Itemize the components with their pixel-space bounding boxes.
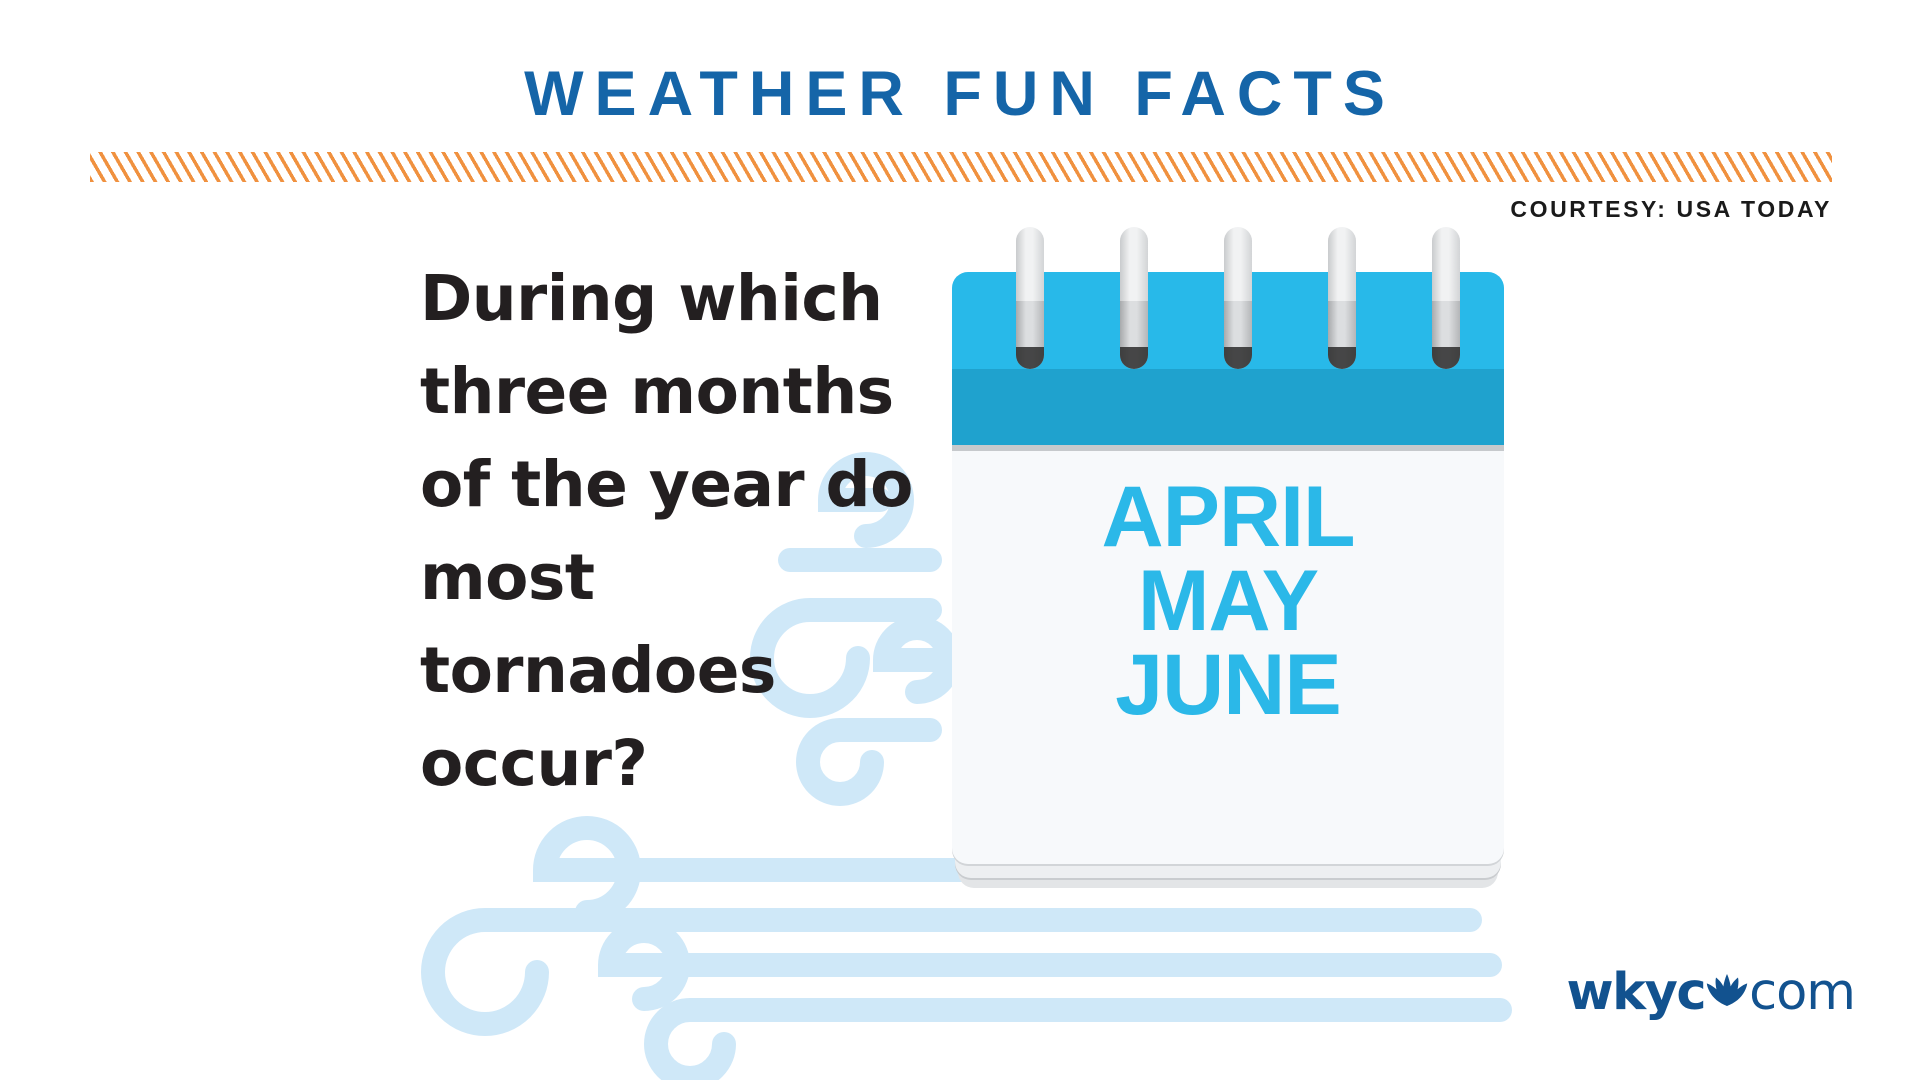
ring-cap-icon bbox=[1328, 347, 1356, 369]
ring-cap-icon bbox=[1224, 347, 1252, 369]
calendar-month-2: MAY bbox=[952, 559, 1504, 643]
ring-cap-icon bbox=[1432, 347, 1460, 369]
calendar-binding-ring-1 bbox=[1016, 227, 1044, 369]
ring-stem-lower-icon bbox=[1224, 301, 1252, 369]
calendar-binding-ring-4 bbox=[1328, 227, 1356, 369]
ring-stem-upper-icon bbox=[1120, 227, 1148, 305]
courtesy-credit: COURTESY: USA TODAY bbox=[1510, 196, 1832, 223]
ring-stem-lower-icon bbox=[1016, 301, 1044, 369]
calendar-binding-ring-3 bbox=[1224, 227, 1252, 369]
ring-stem-upper-icon bbox=[1016, 227, 1044, 305]
striped-divider bbox=[90, 152, 1832, 182]
graphic-canvas: WEATHER FUN FACTS COURTESY: USA TODAY Du… bbox=[0, 0, 1920, 1080]
question-text: During which three months of the year do… bbox=[420, 252, 940, 810]
calendar-binding-ring-2 bbox=[1120, 227, 1148, 369]
ring-stem-upper-icon bbox=[1432, 227, 1460, 305]
wkyc-domain-suffix: com bbox=[1749, 963, 1855, 1022]
wkyc-wordmark: wkyc bbox=[1567, 963, 1706, 1022]
calendar-header-bottom-band bbox=[952, 369, 1504, 445]
ring-cap-icon bbox=[1016, 347, 1044, 369]
calendar-illustration: APRIL MAY JUNE bbox=[952, 272, 1504, 892]
ring-cap-icon bbox=[1120, 347, 1148, 369]
ring-stem-lower-icon bbox=[1432, 301, 1460, 369]
wkyc-logo[interactable]: wkyc com bbox=[1567, 963, 1855, 1022]
calendar-binding-ring-5 bbox=[1432, 227, 1460, 369]
calendar-month-list: APRIL MAY JUNE bbox=[952, 451, 1504, 727]
ring-stem-lower-icon bbox=[1120, 301, 1148, 369]
page-title: WEATHER FUN FACTS bbox=[0, 58, 1920, 130]
ring-stem-upper-icon bbox=[1224, 227, 1252, 305]
ring-stem-lower-icon bbox=[1328, 301, 1356, 369]
nbc-peacock-icon bbox=[1706, 973, 1748, 1007]
calendar-month-3: JUNE bbox=[952, 643, 1504, 727]
calendar-month-1: APRIL bbox=[952, 475, 1504, 559]
ring-stem-upper-icon bbox=[1328, 227, 1356, 305]
